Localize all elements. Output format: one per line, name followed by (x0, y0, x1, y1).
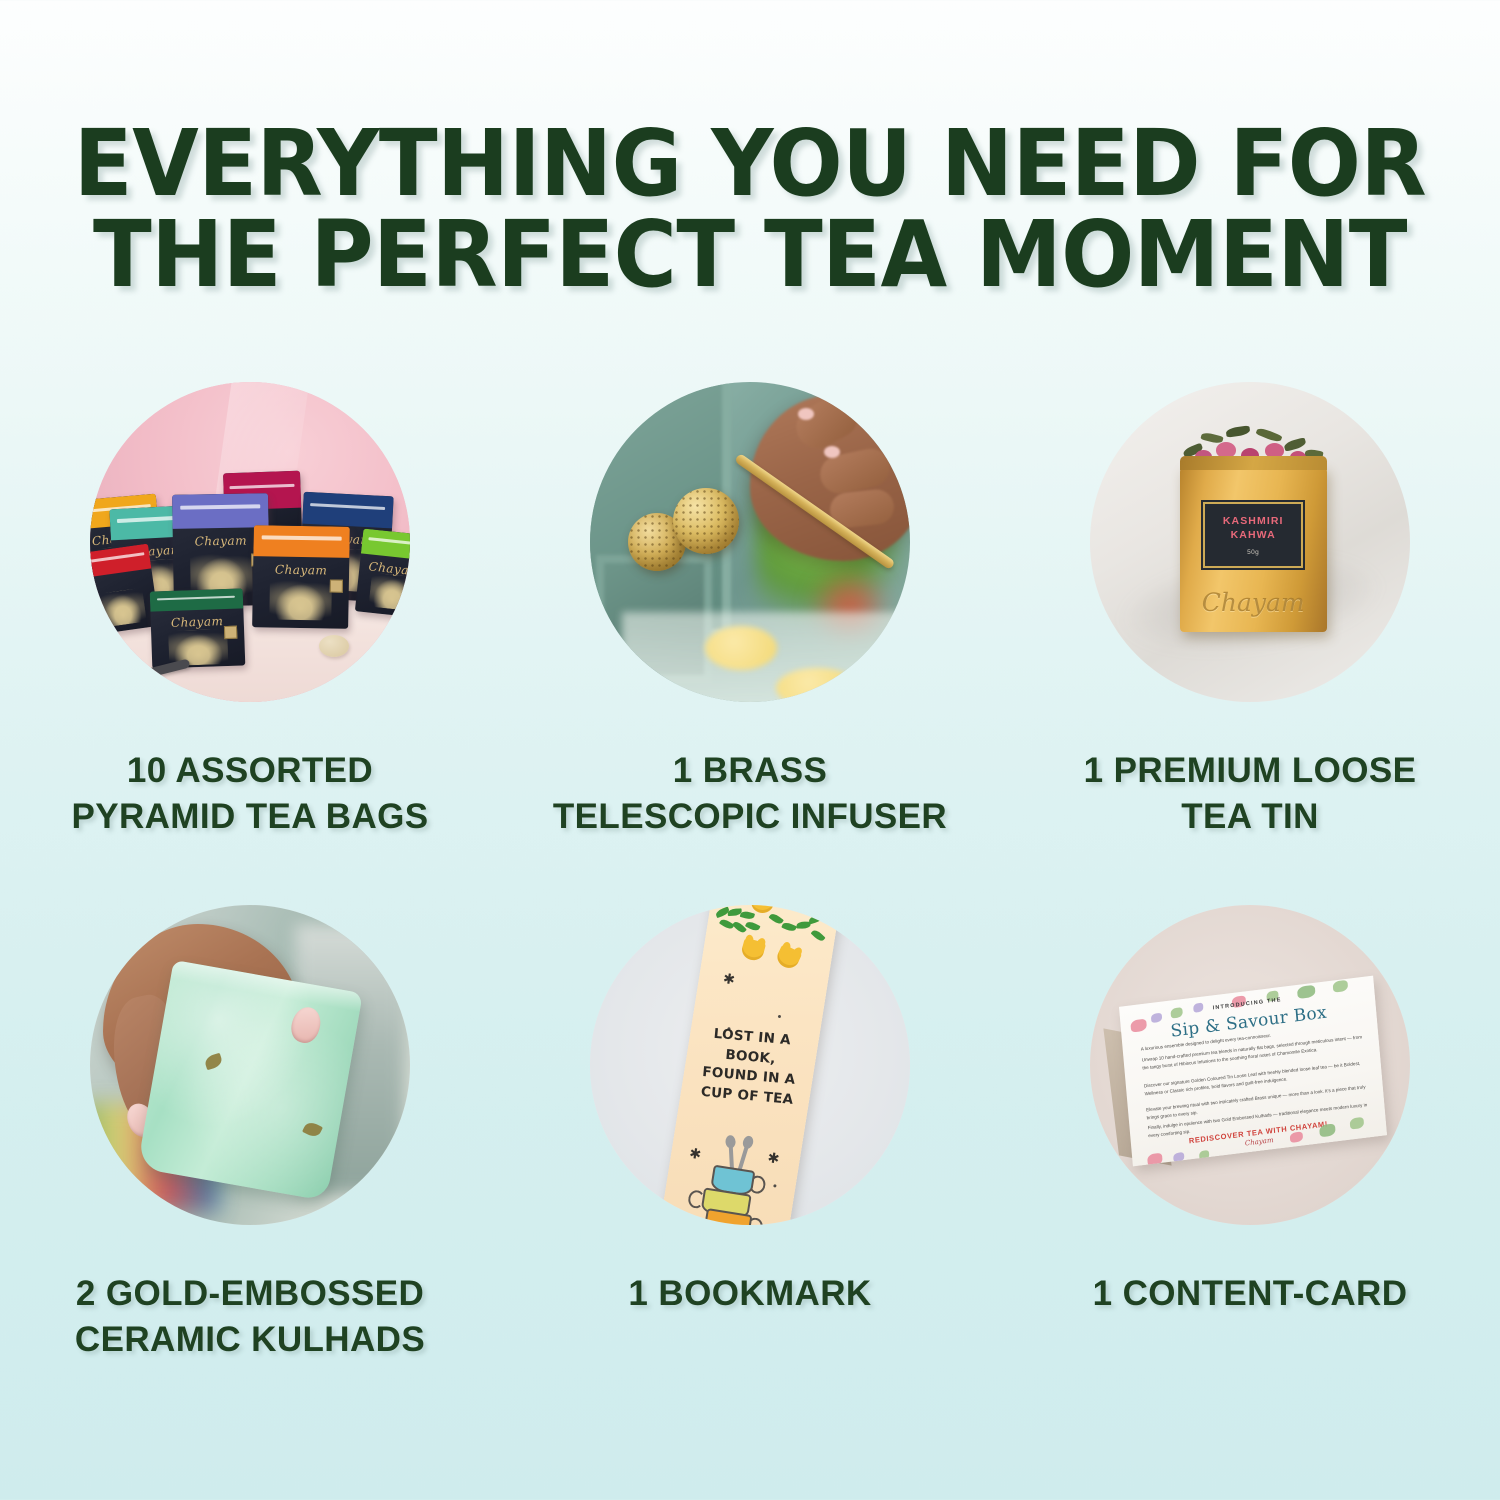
sparkle-icon: ✱ (722, 972, 736, 988)
sachet-tag (224, 625, 237, 638)
leaf (740, 910, 755, 920)
sachet-motif (368, 573, 410, 611)
caption-line-2: TEA TIN (1084, 794, 1417, 840)
floral-sprig (1320, 1124, 1337, 1138)
headline-line-2: THE PERFECT TEA MOMENT (0, 209, 1500, 300)
tea-sachet-magical-cinnamon: Chayam (252, 525, 350, 629)
floral-sprig (1289, 1132, 1303, 1144)
tin-rim (1180, 456, 1327, 470)
caption-line-1: 1 BOOKMARK (628, 1271, 871, 1317)
caption-line-2: TELESCOPIC INFUSER (553, 794, 947, 840)
tea-sachet-ginger-lemongrass: Chayam (149, 588, 244, 668)
caption-line-1: 10 ASSORTED (71, 748, 428, 794)
item-premium-loose-tea-tin: KASHMIRI KAHWA 50g Chayam 1 PREMIUM LOOS… (1000, 382, 1500, 839)
tin-label-line-1: KASHMIRI (1223, 514, 1284, 528)
sachet-motif (97, 589, 146, 628)
sachet-motif (270, 579, 332, 621)
photo-gold-embossed-ceramic-kulhads (90, 905, 410, 1225)
sachet-band (172, 493, 269, 528)
sachet-band (254, 525, 351, 557)
infuser-mesh-ball-large (673, 488, 739, 554)
lemon-slice-blur (776, 668, 858, 702)
grid-row-1: Chayam Chayam Chayam (0, 382, 1500, 839)
caption-line-2: CERAMIC KULHADS (75, 1317, 425, 1363)
leaf (808, 914, 823, 925)
caption-line-2: PYRAMID TEA BAGS (71, 794, 428, 840)
tin-brand-script: Chayam (1180, 588, 1327, 617)
caption-bookmark: 1 BOOKMARK (628, 1271, 871, 1317)
item-brass-telescopic-infuser: 1 BRASS TELESCOPIC INFUSER (500, 382, 1000, 839)
tin-label-line-2: KAHWA (1231, 528, 1276, 542)
page-title: EVERYTHING YOU NEED FOR THE PERFECT TEA … (0, 118, 1500, 300)
bookmark-quote: LOST IN A BOOK, FOUND IN A CUP OF TEA (682, 1022, 816, 1112)
caption-line-1: 1 BRASS (553, 748, 947, 794)
tulip-flower (774, 944, 802, 971)
fingernail (824, 446, 840, 458)
caption-brass-telescopic-infuser: 1 BRASS TELESCOPIC INFUSER (553, 748, 947, 839)
tea-leaf (1225, 426, 1250, 438)
gold-tea-tin: KASHMIRI KAHWA 50g Chayam (1180, 465, 1327, 631)
caption-line-1: 2 GOLD-EMBOSSED (75, 1271, 425, 1317)
item-bookmark: ✱ LOST IN A BOOK, FOUND IN A CUP OF TEA … (500, 905, 1000, 1362)
tea-sachet-ginger-turmeric: Chayam (355, 529, 410, 619)
ceramic-kulhad (137, 960, 363, 1201)
tea-sachet-kashmiri-kahwa (90, 544, 159, 636)
photo-assorted-pyramid-tea-bags: Chayam Chayam Chayam (90, 382, 410, 702)
caption-content-card: 1 CONTENT-CARD (1093, 1271, 1408, 1317)
sachet-band (302, 492, 393, 528)
photo-brass-telescopic-infuser (590, 382, 910, 702)
tin-label: KASHMIRI KAHWA 50g (1203, 502, 1303, 569)
sachet-brand-script: Chayam (253, 562, 349, 578)
sachet-tag (330, 580, 343, 593)
caption-line-1: 1 CONTENT-CARD (1093, 1271, 1408, 1317)
photo-bookmark: ✱ LOST IN A BOOK, FOUND IN A CUP OF TEA … (590, 905, 910, 1225)
grid-row-2: 2 GOLD-EMBOSSED CERAMIC KULHADS (0, 905, 1500, 1362)
item-assorted-pyramid-tea-bags: Chayam Chayam Chayam (0, 382, 500, 839)
fingernail (798, 408, 814, 420)
sachet-band (361, 529, 410, 561)
dot-decor (778, 1015, 781, 1018)
content-card-face: INTRODUCING THE Sip & Savour Box A luxur… (1119, 976, 1387, 1167)
caption-premium-loose-tea-tin: 1 PREMIUM LOOSE TEA TIN (1084, 748, 1417, 839)
headline-line-1: EVERYTHING YOU NEED FOR (0, 118, 1500, 209)
leaf-sprig (758, 905, 832, 949)
leaf (781, 921, 797, 933)
caption-assorted-pyramid-tea-bags: 10 ASSORTED PYRAMID TEA BAGS (71, 748, 428, 839)
caption-line-1: 1 PREMIUM LOOSE (1084, 748, 1417, 794)
item-content-card: INTRODUCING THE Sip & Savour Box A luxur… (1000, 905, 1500, 1362)
sachet-band (149, 588, 242, 611)
photo-premium-loose-tea-tin: KASHMIRI KAHWA 50g Chayam (1090, 382, 1410, 702)
teacup-handle (748, 1174, 767, 1194)
photo-content-card: INTRODUCING THE Sip & Savour Box A luxur… (1090, 905, 1410, 1225)
tea-leaf (1256, 426, 1283, 443)
stacked-teacups-illustration (678, 1133, 784, 1225)
caption-gold-embossed-ceramic-kulhads: 2 GOLD-EMBOSSED CERAMIC KULHADS (75, 1271, 425, 1362)
floral-sprig (1350, 1117, 1365, 1130)
product-contents-grid: Chayam Chayam Chayam (0, 382, 1500, 1362)
leaf (732, 920, 747, 935)
item-gold-embossed-ceramic-kulhads: 2 GOLD-EMBOSSED CERAMIC KULHADS (0, 905, 500, 1362)
lemon-slice-blur (705, 626, 777, 670)
tulip-flower (740, 938, 766, 963)
spoon-icon (738, 1143, 750, 1171)
tin-label-weight: 50g (1247, 549, 1259, 556)
tea-leaf (1283, 437, 1307, 452)
leaf (811, 928, 826, 943)
